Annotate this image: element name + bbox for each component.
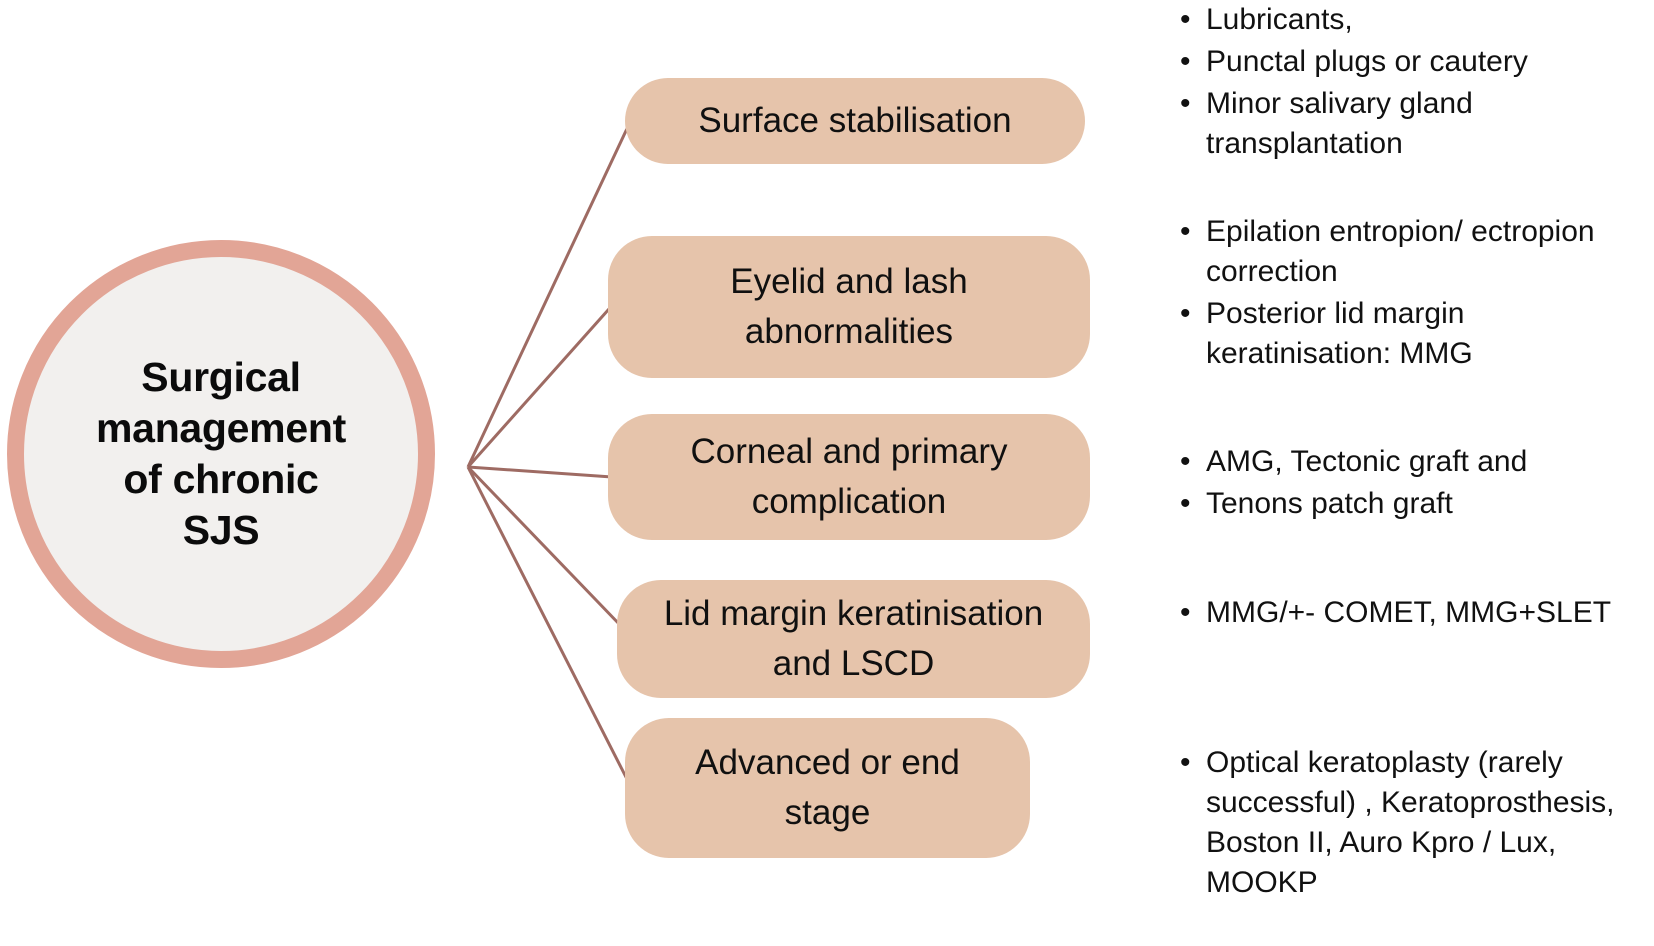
list-item-text: Optical keratoplasty (rarely successful)…	[1206, 743, 1650, 903]
list-item-text: Tenons patch graft	[1206, 484, 1650, 524]
list-item: • Epilation entropion/ ectropion correct…	[1180, 212, 1650, 292]
bullet-dot-icon: •	[1180, 593, 1206, 633]
branch-box-label: Lid margin keratinisation and LSCD	[644, 589, 1063, 688]
branch-box-advanced-or-end-stage[interactable]: Advanced or end stage	[625, 718, 1030, 858]
branch-box-lid-margin-keratinisation-and-lscd[interactable]: Lid margin keratinisation and LSCD	[617, 580, 1090, 698]
list-item: • AMG, Tectonic graft and	[1180, 442, 1650, 482]
center-node-label: Surgical management of chronic SJS	[62, 352, 380, 557]
center-node: Surgical management of chronic SJS	[7, 240, 435, 668]
list-item: • MMG/+- COMET, MMG+SLET	[1180, 593, 1650, 633]
bullet-dot-icon: •	[1180, 484, 1206, 524]
list-item-text: Minor salivary gland transplantation	[1206, 84, 1650, 164]
list-item: • Minor salivary gland transplantation	[1180, 84, 1650, 164]
list-item: • Lubricants,	[1180, 0, 1650, 40]
list-item: • Punctal plugs or cautery	[1180, 42, 1650, 82]
bullet-dot-icon: •	[1180, 0, 1206, 40]
connector-line-2	[468, 467, 612, 477]
connector-line-3	[468, 467, 622, 627]
list-item-text: Posterior lid margin keratinisation: MMG	[1206, 294, 1650, 374]
branch-box-corneal-and-primary-complication[interactable]: Corneal and primary complication	[608, 414, 1090, 540]
connector-line-1	[468, 300, 617, 467]
list-item-text: MMG/+- COMET, MMG+SLET	[1206, 593, 1650, 633]
bullet-dot-icon: •	[1180, 84, 1206, 124]
detail-group-corneal-and-primary-complication: • AMG, Tectonic graft and • Tenons patch…	[1180, 442, 1650, 526]
bullet-dot-icon: •	[1180, 442, 1206, 482]
detail-group-eyelid-and-lash-abnormalities: • Epilation entropion/ ectropion correct…	[1180, 212, 1650, 376]
connector-line-4	[468, 467, 630, 785]
list-item-text: Punctal plugs or cautery	[1206, 42, 1650, 82]
bullet-dot-icon: •	[1180, 294, 1206, 334]
branch-box-label: Advanced or end stage	[675, 738, 980, 837]
list-item-text: Epilation entropion/ ectropion correctio…	[1206, 212, 1650, 292]
list-item: • Optical keratoplasty (rarely successfu…	[1180, 743, 1650, 903]
diagram-canvas: Surgical management of chronic SJS Surfa…	[0, 0, 1654, 946]
list-item: • Posterior lid margin keratinisation: M…	[1180, 294, 1650, 374]
branch-box-eyelid-and-lash-abnormalities[interactable]: Eyelid and lash abnormalities	[608, 236, 1090, 378]
branch-box-label: Corneal and primary complication	[670, 427, 1027, 526]
bullet-dot-icon: •	[1180, 743, 1206, 783]
detail-group-advanced-or-end-stage: • Optical keratoplasty (rarely successfu…	[1180, 743, 1650, 905]
list-item: • Tenons patch graft	[1180, 484, 1650, 524]
bullet-dot-icon: •	[1180, 42, 1206, 82]
list-item-text: AMG, Tectonic graft and	[1206, 442, 1650, 482]
bullet-dot-icon: •	[1180, 212, 1206, 252]
branch-box-surface-stabilisation[interactable]: Surface stabilisation	[625, 78, 1085, 164]
list-item-text: Lubricants,	[1206, 0, 1650, 40]
branch-box-label: Surface stabilisation	[678, 96, 1031, 146]
branch-box-label: Eyelid and lash abnormalities	[710, 257, 987, 356]
detail-group-lid-margin-keratinisation-and-lscd: • MMG/+- COMET, MMG+SLET	[1180, 593, 1650, 635]
detail-group-surface-stabilisation: • Lubricants, • Punctal plugs or cautery…	[1180, 0, 1650, 166]
